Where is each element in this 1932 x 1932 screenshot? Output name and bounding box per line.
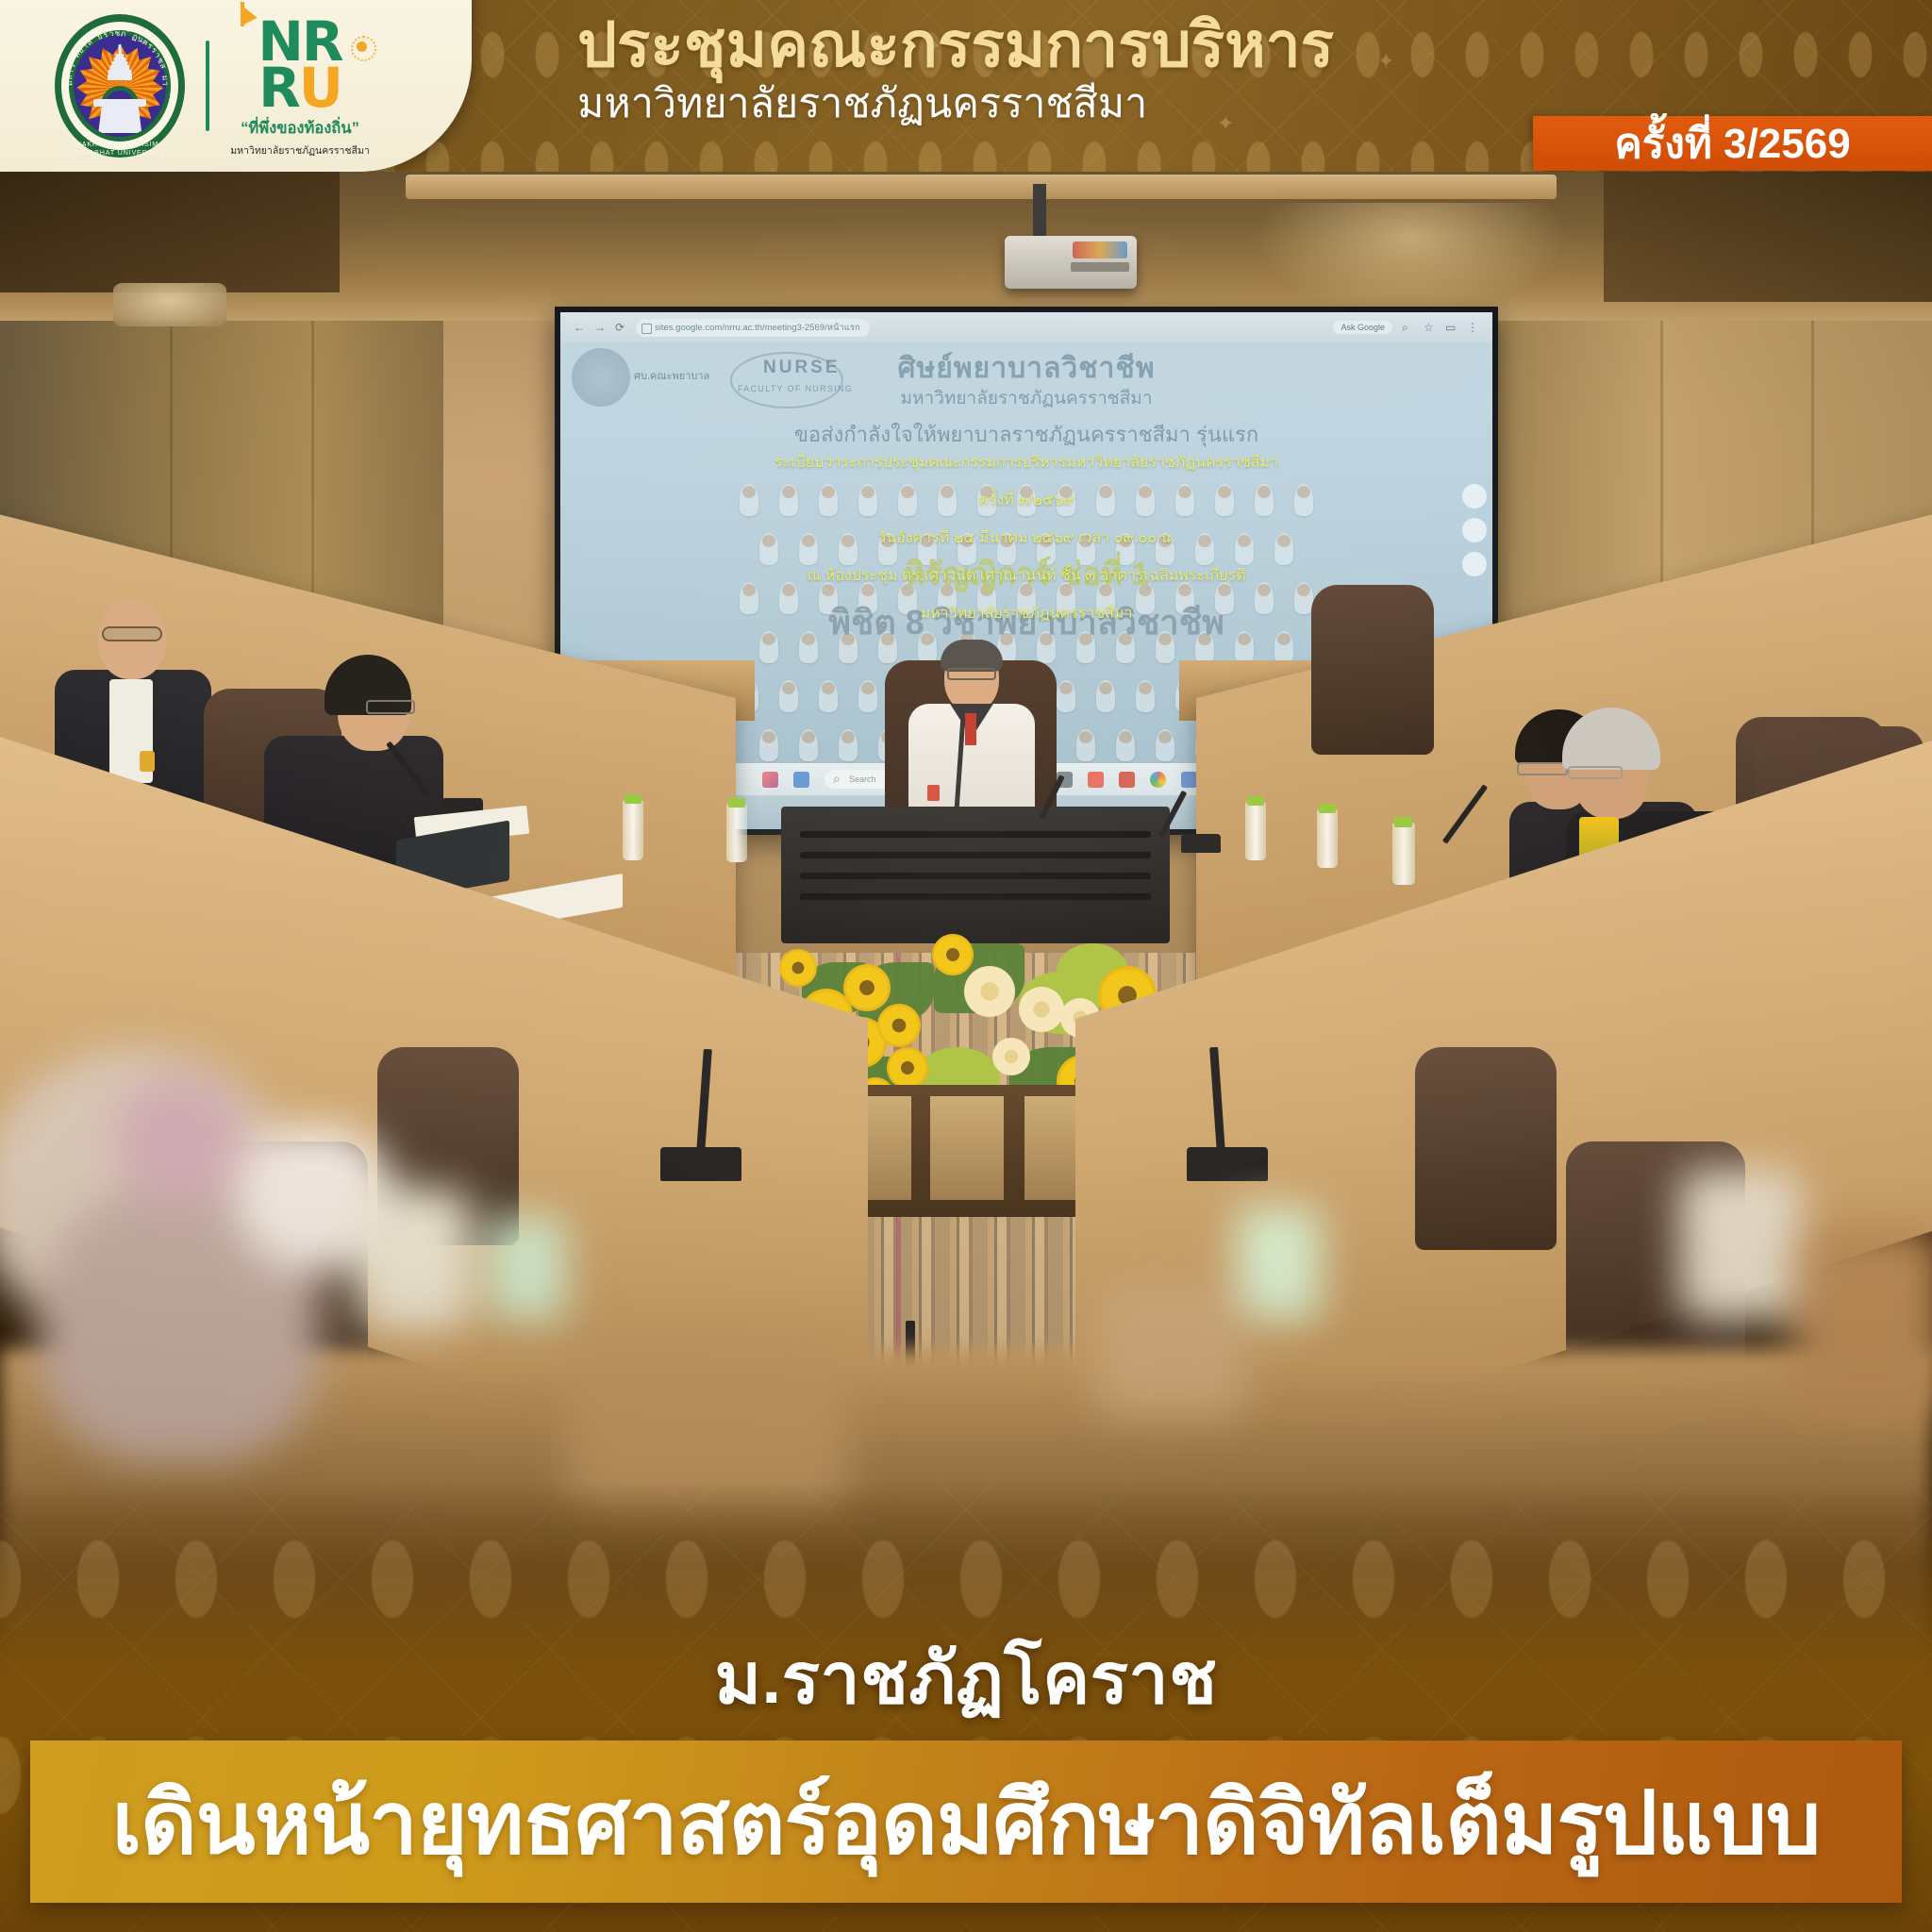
bottle-cap — [728, 798, 745, 808]
share-icon[interactable] — [1462, 518, 1487, 542]
bottle-cap — [625, 794, 641, 804]
bouquet-flower — [1019, 987, 1064, 1032]
poster-header: ✦ ✦ ✦ ✦ — [0, 0, 1932, 172]
flag-icon — [241, 3, 258, 25]
taskbar-media-icon[interactable] — [1088, 772, 1104, 788]
nurse-figure — [1156, 729, 1174, 761]
seal-english-text: NAKHON RATCHASIMA RAJABHAT UNIVERSITY — [55, 140, 185, 157]
header-title-block: ประชุมคณะกรรมการบริหาร มหาวิทยาลัยราชภัฏ… — [577, 12, 1747, 128]
water-bottle — [1245, 802, 1266, 860]
nurse-figure — [858, 680, 877, 712]
chairman-tie — [965, 713, 976, 745]
poster-university: มหาวิทยาลัยราชภัฏนครราชสีมา — [560, 384, 1492, 412]
attendee-glasses — [366, 700, 415, 714]
reload-icon[interactable]: ⟳ — [615, 322, 627, 334]
star-icon[interactable]: ☆ — [1424, 322, 1436, 334]
nurse-figure — [799, 729, 818, 761]
ceiling-projector — [1005, 236, 1137, 289]
bouquet-flower — [932, 934, 974, 975]
bouquet-flower — [843, 964, 891, 1011]
blurred-papers — [358, 1189, 472, 1330]
chairman-hair — [941, 640, 1003, 672]
nrru-wordmark: NR RU “ที่พึ่งของท้องถิ่น” มหาวิทยาลัยรา… — [230, 13, 370, 158]
podium-vent — [800, 852, 1151, 858]
chairman-glasses — [947, 668, 996, 680]
projector-mount — [1033, 184, 1046, 241]
bouquet-flower — [964, 966, 1015, 1017]
nrru-letters: NR RU — [230, 19, 370, 110]
ceiling-light-strip — [406, 175, 1557, 199]
header-title: ประชุมคณะกรรมการบริหาร — [577, 12, 1747, 77]
bottle-cap — [1394, 817, 1412, 827]
podium-vent — [800, 893, 1151, 900]
taskbar-office-icon[interactable] — [1181, 772, 1197, 788]
footer-headline-text: เดินหน้ายุทธศาสตร์อุดมศึกษาดิจิทัลเต็มรู… — [112, 1753, 1821, 1891]
podium-vent — [800, 873, 1151, 879]
attendee-glasses — [1568, 766, 1623, 779]
nurse-figure — [1136, 680, 1155, 712]
nurse-figure — [839, 729, 858, 761]
projector-vent — [1071, 262, 1129, 272]
ceiling-lamp — [113, 283, 226, 326]
taskbar-app-icon[interactable] — [762, 772, 778, 788]
water-bottle — [1317, 809, 1338, 868]
social-media-poster: ← → ⟳ sites.google.com/nrru.ac.th/meetin… — [0, 0, 1932, 1932]
browser-toolbar-right: Ask Google ⌕ ☆ ▭ ⋮ — [1333, 321, 1479, 334]
agenda-line: ครั้งที่ ๓/๒๕๖๙ — [560, 482, 1492, 520]
bouquet-flower — [779, 949, 817, 987]
nurse-figure — [1096, 680, 1115, 712]
blurred-object — [1094, 1283, 1245, 1415]
blurred-papers — [1679, 1170, 1802, 1321]
staff-sunglasses — [102, 626, 162, 641]
projector-cables — [1073, 241, 1127, 258]
browser-toolbar: ← → ⟳ sites.google.com/nrru.ac.th/meetin… — [560, 312, 1492, 342]
seal-arc-char: ม — [158, 75, 173, 81]
more-menu-icon[interactable]: ⋮ — [1467, 322, 1479, 334]
start-menu-icon[interactable] — [793, 772, 809, 788]
agenda-line: ระเบียบวาระการประชุมคณะกรรมการบริหารมหาว… — [560, 444, 1492, 482]
microphone-base — [1181, 834, 1221, 853]
water-bottle — [1392, 823, 1415, 885]
back-arrow-icon[interactable]: ← — [574, 322, 586, 334]
seal-arc-char: ภ — [121, 26, 127, 40]
bottle-cap — [1319, 804, 1336, 813]
footer-headline-banner: เดินหน้ายุทธศาสตร์อุดมศึกษาดิจิทัลเต็มรู… — [30, 1740, 1902, 1903]
attendee-grey-hair — [1562, 708, 1660, 770]
search-icon[interactable]: ⌕ — [1402, 322, 1414, 334]
nrru-tagline-sub: มหาวิทยาลัยราชภัฏนครราชสีมา — [230, 142, 370, 158]
nrru-tagline: “ที่พึ่งของท้องถิ่น” — [230, 116, 370, 141]
nurse-figure — [1076, 729, 1095, 761]
meeting-number-text: ครั้งที่ 3/2569 — [1614, 110, 1850, 172]
footer-tagline: ม.ราชภัฏโคราช — [0, 1623, 1932, 1735]
university-logo-panel: จ มหาวิทยาลัยราชภัฏนครราชสีมา NAKHON RAT… — [0, 0, 472, 172]
lightbulb-icon — [357, 42, 367, 52]
water-bottle — [623, 800, 643, 860]
accessibility-icon[interactable] — [1462, 484, 1487, 508]
browser-url-bar[interactable]: sites.google.com/nrru.ac.th/meeting3-256… — [636, 319, 870, 337]
seal-thai-text: มหาวิทยาลัยราชภัฏนครราชสีมา — [55, 16, 185, 82]
nurse-figure — [819, 680, 838, 712]
blurred-pink-object — [113, 1075, 245, 1207]
seal-pedestal — [98, 105, 142, 133]
attendee-microphone — [1442, 784, 1488, 843]
seal-arc-char: ห — [62, 75, 75, 80]
edit-pencil-icon[interactable] — [1462, 552, 1487, 576]
ask-google-button[interactable]: Ask Google — [1333, 321, 1392, 334]
taskbar-chrome-icon[interactable] — [1150, 772, 1166, 788]
bouquet-flower — [877, 1004, 921, 1047]
nurse-figure — [779, 680, 798, 712]
empty-chair-far-right — [1311, 585, 1434, 755]
blurred-bottle — [1236, 1207, 1321, 1321]
university-seal: จ มหาวิทยาลัยราชภัฏนครราชสีมา NAKHON RAT… — [55, 14, 185, 158]
nurse-figure — [1057, 680, 1075, 712]
taskbar-pdf-icon[interactable] — [1119, 772, 1135, 788]
logo-divider — [206, 41, 209, 131]
staff-badge-pin — [140, 751, 155, 772]
agenda-line: วันอังคารที่ ๒๔ มีนาคม ๒๕๖๙ เวลา ๐๙.๐๐ น… — [560, 520, 1492, 558]
nurse-figure — [1116, 729, 1135, 761]
nrru-line-2: RU — [230, 65, 370, 111]
bottle-cap — [1247, 796, 1264, 806]
blurred-object — [1792, 1226, 1932, 1415]
site-side-buttons — [1462, 484, 1487, 586]
forward-arrow-icon[interactable]: → — [594, 322, 607, 334]
podium-vent — [800, 831, 1151, 838]
nurse-figure — [759, 729, 778, 761]
chairman-lapel-pin — [927, 785, 940, 801]
ceiling-light-glow — [1255, 203, 1566, 316]
tabs-icon[interactable]: ▭ — [1445, 322, 1457, 334]
seal-arc-char: า — [159, 81, 173, 86]
meeting-number-badge: ครั้งที่ 3/2569 — [1533, 116, 1932, 171]
water-bottle — [726, 804, 747, 862]
blurred-bottle — [491, 1217, 566, 1321]
